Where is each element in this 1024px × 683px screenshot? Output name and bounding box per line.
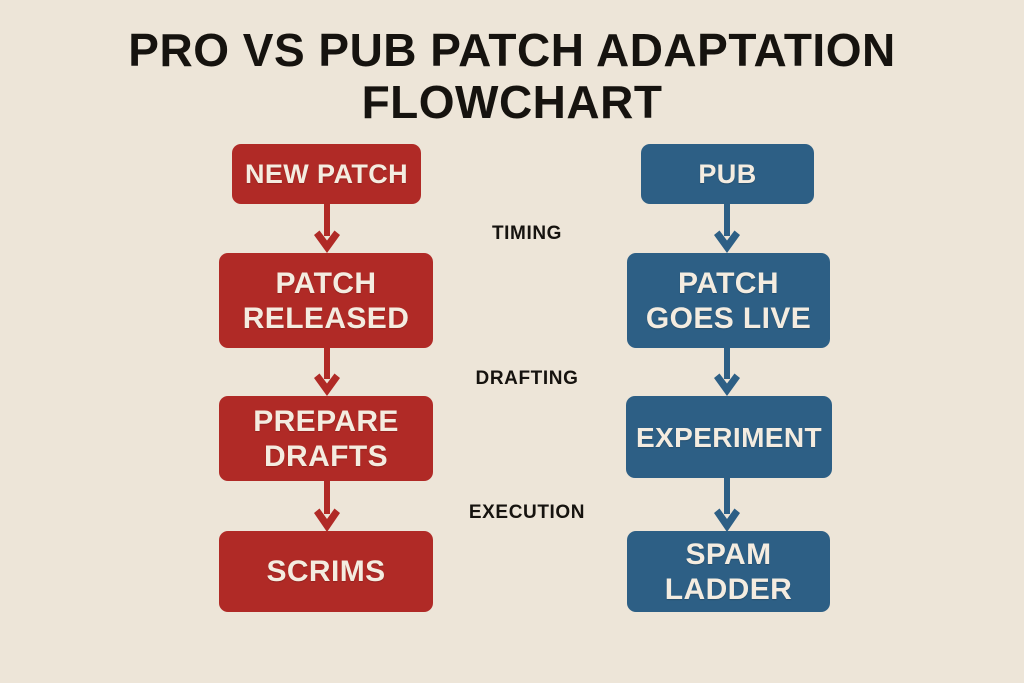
flowchart-canvas: PRO VS PUB PATCH ADAPTATION FLOWCHART NE…: [0, 0, 1024, 683]
pro-node-patch-released-label: PATCH RELEASED: [227, 266, 425, 336]
pro-node-prepare-drafts-label: PREPARE DRAFTS: [227, 404, 425, 474]
page-title: PRO VS PUB PATCH ADAPTATION FLOWCHART: [0, 24, 1024, 128]
stage-label-execution: EXECUTION: [469, 502, 585, 524]
pub-arrow-3: [713, 478, 741, 533]
pro-node-prepare-drafts[interactable]: PREPARE DRAFTS: [219, 396, 433, 481]
stage-label-drafting: DRAFTING: [476, 368, 579, 390]
pub-arrow-2: [713, 348, 741, 397]
pub-arrow-1: [713, 204, 741, 254]
pub-node-patch-goes-live-label: PATCH GOES LIVE: [635, 266, 822, 336]
stage-label-drafting-text: DRAFTING: [476, 368, 579, 389]
pub-node-patch-goes-live[interactable]: PATCH GOES LIVE: [627, 253, 830, 348]
pro-node-patch-released[interactable]: PATCH RELEASED: [219, 253, 433, 348]
pro-node-scrims-label: SCRIMS: [227, 554, 425, 589]
pro-node-new-patch[interactable]: NEW PATCH: [232, 144, 421, 204]
pro-arrow-2: [313, 348, 341, 397]
stage-label-execution-text: EXECUTION: [469, 502, 585, 523]
pro-node-new-patch-label: NEW PATCH: [240, 159, 413, 189]
page-title-line-2: FLOWCHART: [0, 76, 1024, 128]
pub-node-experiment[interactable]: EXPERIMENT: [626, 396, 832, 478]
pub-node-experiment-label: EXPERIMENT: [634, 421, 824, 454]
pro-node-scrims[interactable]: SCRIMS: [219, 531, 433, 612]
pro-arrow-1: [313, 204, 341, 254]
pro-arrow-3: [313, 481, 341, 533]
stage-label-timing-text: TIMING: [492, 223, 562, 244]
pub-node-spam-ladder[interactable]: SPAM LADDER: [627, 531, 830, 612]
page-title-line-1: PRO VS PUB PATCH ADAPTATION: [0, 24, 1024, 76]
pub-node-spam-ladder-label: SPAM LADDER: [635, 537, 822, 607]
pub-node-pub-label: PUB: [649, 159, 806, 189]
stage-label-timing: TIMING: [492, 223, 562, 245]
pub-node-pub[interactable]: PUB: [641, 144, 814, 204]
